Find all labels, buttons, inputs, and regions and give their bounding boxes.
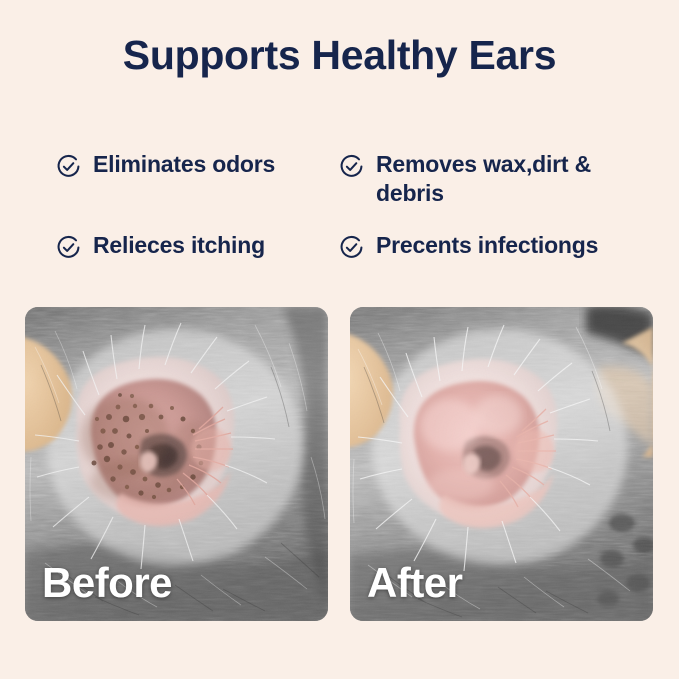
after-photo-panel: After	[350, 307, 653, 621]
cat-ear-before-image	[25, 307, 328, 621]
feature-label: Relieces itching	[93, 231, 265, 260]
before-after-comparison: Before	[25, 307, 654, 621]
cat-ear-after-image	[350, 307, 653, 621]
feature-label: Eliminates odors	[93, 150, 275, 179]
check-circle-icon	[338, 231, 365, 261]
feature-item-relieves-itching: Relieces itching	[55, 231, 338, 261]
check-circle-icon	[338, 150, 365, 180]
feature-label: Precents infectiongs	[376, 231, 598, 260]
feature-list: Eliminates odors Removes wax,dirt & debr…	[55, 150, 655, 261]
feature-item-eliminates-odors: Eliminates odors	[55, 150, 338, 209]
check-circle-icon	[55, 150, 82, 180]
feature-label: Removes wax,dirt & debris	[376, 150, 638, 209]
product-feature-graphic: Supports Healthy Ears Eliminates odors R…	[0, 0, 679, 679]
page-title: Supports Healthy Ears	[0, 33, 679, 78]
check-circle-icon	[55, 231, 82, 261]
feature-item-prevents-infections: Precents infectiongs	[338, 231, 638, 261]
before-photo-panel: Before	[25, 307, 328, 621]
feature-item-removes-wax-dirt-debris: Removes wax,dirt & debris	[338, 150, 638, 209]
